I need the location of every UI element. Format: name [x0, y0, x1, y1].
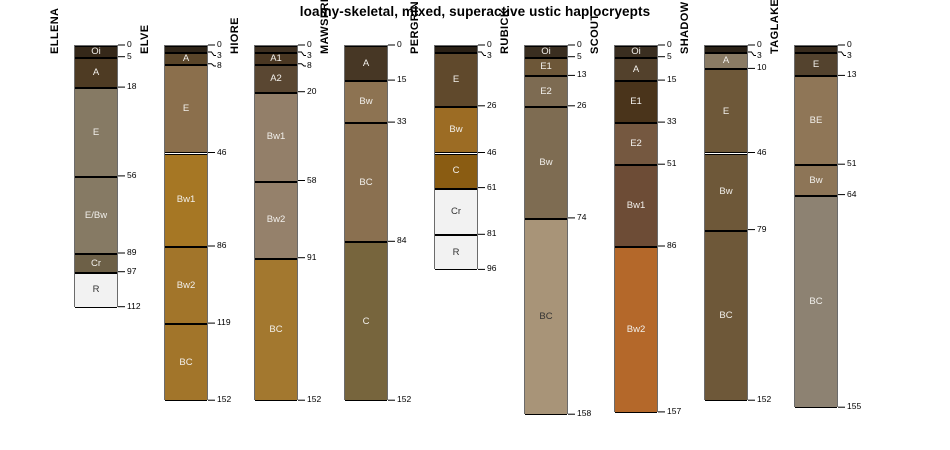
pedon-name-label: TAGLAKE [770, 0, 781, 54]
horizon-segment[interactable]: R [75, 273, 117, 308]
depth-tick-label: 0 [127, 40, 132, 49]
horizon-segment[interactable]: C [345, 242, 387, 401]
horizon-segment[interactable]: Bw2 [165, 247, 207, 324]
horizon-label: BC [179, 358, 192, 368]
depth-tick-label: 155 [847, 402, 861, 411]
profile-bar[interactable]: OiE1E2BwBC [524, 45, 568, 414]
horizon-segment[interactable]: Oi [255, 46, 297, 53]
pedon-name-label: HIORE [230, 17, 241, 54]
horizon-segment[interactable]: BC [165, 324, 207, 401]
horizon-label: Bw [539, 158, 552, 168]
depth-tick-label: 0 [577, 40, 582, 49]
depth-tick-label: 64 [847, 190, 856, 199]
horizon-label: A [363, 59, 369, 69]
horizon-label: Bw2 [267, 215, 285, 225]
profile-bar[interactable]: OiA1A2Bw1Bw2BC [254, 45, 298, 400]
horizon-segment[interactable]: Oi [525, 46, 567, 58]
profile-bar[interactable]: OeAEBw1Bw2BC [164, 45, 208, 400]
horizon-label: A2 [270, 74, 282, 84]
depth-tick-label: 8 [217, 61, 222, 70]
horizon-segment[interactable]: C [435, 154, 477, 189]
profile-bar[interactable]: OeAEBwBC [704, 45, 748, 400]
horizon-label: Oi [631, 47, 641, 57]
horizon-label: R [93, 285, 100, 295]
horizon-segment[interactable]: Bw [525, 107, 567, 219]
horizon-segment[interactable]: A [705, 53, 747, 69]
horizon-label: A [723, 56, 729, 66]
depth-tick-label: 0 [847, 40, 852, 49]
pedon-name-label: ELLENA [50, 8, 61, 54]
horizon-label: Bw1 [177, 195, 195, 205]
horizon-segment[interactable]: Oi [615, 46, 657, 58]
horizon-segment[interactable]: E2 [615, 123, 657, 165]
depth-tick-label: 3 [487, 51, 492, 60]
horizon-segment[interactable]: E [75, 88, 117, 177]
profile-bar[interactable]: OiEBEBwBC [794, 45, 838, 407]
horizon-label: BC [359, 178, 372, 188]
horizon-label: A [93, 68, 99, 78]
horizon-label: C [453, 166, 460, 176]
horizon-segment[interactable]: A [165, 53, 207, 65]
horizon-label: E [723, 107, 729, 117]
horizon-segment[interactable]: E [705, 69, 747, 153]
horizon-label: Oi [91, 47, 101, 57]
horizon-segment[interactable]: E2 [525, 76, 567, 106]
horizon-label: E [183, 104, 189, 114]
profile-bar[interactable]: OiAE1E2Bw1Bw2 [614, 45, 658, 412]
depth-tick-label: 3 [757, 51, 762, 60]
horizon-segment[interactable]: BC [345, 123, 387, 242]
horizon-segment[interactable]: Oe [435, 46, 477, 53]
pedon-name-label: SCOUT [590, 14, 601, 55]
horizon-segment[interactable]: A [615, 58, 657, 81]
horizon-segment[interactable]: E1 [525, 58, 567, 77]
horizon-label: BC [719, 311, 732, 321]
horizon-segment[interactable]: Cr [435, 189, 477, 236]
depth-tick-label: 5 [667, 52, 672, 61]
horizon-label: C [363, 317, 370, 327]
horizon-segment[interactable]: Bw1 [615, 165, 657, 247]
depth-tick-label: 3 [847, 51, 852, 60]
horizon-label: E1 [630, 97, 642, 107]
horizon-segment[interactable]: BE [795, 76, 837, 165]
horizon-segment[interactable]: E [165, 65, 207, 154]
horizon-label: E [813, 60, 819, 70]
horizon-segment[interactable]: A [345, 46, 387, 81]
horizon-segment[interactable]: Bw [705, 154, 747, 231]
horizon-label: Bw [359, 97, 372, 107]
horizon-label: Bw [719, 187, 732, 197]
horizon-label: Bw2 [627, 325, 645, 335]
pedon-name-label: ELVE [140, 24, 151, 54]
horizon-segment[interactable]: Oe [165, 46, 207, 53]
depth-tick-label: 0 [487, 40, 492, 49]
horizon-segment[interactable]: Cr [75, 254, 117, 273]
depth-tick-label: 3 [307, 51, 312, 60]
horizon-segment[interactable]: Bw1 [165, 154, 207, 247]
horizon-label: R [453, 248, 460, 258]
horizon-label: E2 [540, 87, 552, 97]
depth-tick-label: 0 [397, 40, 402, 49]
horizon-segment[interactable]: A2 [255, 65, 297, 93]
depth-tick-label: 8 [307, 61, 312, 70]
depth-tick-label: 13 [847, 70, 856, 79]
horizon-segment[interactable]: E1 [615, 81, 657, 123]
horizon-label: Cr [451, 207, 461, 217]
horizon-segment[interactable]: E [795, 53, 837, 76]
horizon-label: E2 [630, 139, 642, 149]
horizon-segment[interactable]: BC [255, 259, 297, 402]
depth-tick-label: 0 [757, 40, 762, 49]
horizon-segment[interactable]: BC [525, 219, 567, 415]
horizon-label: A [633, 65, 639, 75]
horizon-label: E/Bw [85, 211, 107, 221]
depth-tick-label: 51 [847, 159, 856, 168]
horizon-segment[interactable]: Bw2 [255, 182, 297, 259]
horizon-segment[interactable]: Bw [435, 107, 477, 154]
horizon-label: BC [809, 297, 822, 307]
depth-tick-label: 3 [217, 51, 222, 60]
horizon-label: BC [269, 325, 282, 335]
pedon-name-label: PERGRIN [410, 1, 421, 54]
horizon-label: A [183, 54, 189, 64]
horizon-label: Bw1 [627, 201, 645, 211]
horizon-segment[interactable]: E/Bw [75, 177, 117, 254]
horizon-label: E [453, 75, 459, 85]
depth-tick-label: 0 [307, 40, 312, 49]
horizon-label: BE [810, 116, 823, 126]
horizon-label: Cr [91, 259, 101, 269]
horizon-segment[interactable]: A [75, 58, 117, 88]
horizon-label: Bw [809, 176, 822, 186]
soil-profile-taglake: TAGLAKEOiEBEBwBC03135164155 [764, 0, 878, 450]
horizon-segment[interactable]: Bw1 [255, 93, 297, 182]
horizon-label: Oi [541, 47, 551, 57]
profile-bar[interactable]: OeEBwCCrR [434, 45, 478, 269]
horizon-label: Bw [449, 125, 462, 135]
horizon-segment[interactable]: A1 [255, 53, 297, 65]
depth-leader-lines [838, 0, 878, 450]
depth-tick-label: 5 [577, 52, 582, 61]
horizon-label: Bw1 [267, 132, 285, 142]
horizon-label: BC [539, 312, 552, 322]
horizon-label: E1 [540, 62, 552, 72]
horizon-segment[interactable]: Oe [705, 46, 747, 53]
profile-bar[interactable]: OiAEE/BwCrR [74, 45, 118, 307]
horizon-label: E [93, 128, 99, 138]
horizon-segment[interactable]: Bw [345, 81, 387, 123]
horizon-label: Bw2 [177, 281, 195, 291]
pedon-name-label: RUBICK [500, 9, 511, 54]
pedon-name-label: MAWSPRING [320, 0, 331, 54]
horizon-segment[interactable]: BC [795, 196, 837, 409]
horizon-segment[interactable]: R [435, 235, 477, 270]
horizon-segment[interactable]: E [435, 53, 477, 107]
pedon-name-label: SHADOW [680, 1, 691, 54]
depth-tick-label: 0 [217, 40, 222, 49]
horizon-segment[interactable]: Oi [795, 46, 837, 53]
depth-tick-label: 0 [667, 40, 672, 49]
horizon-segment[interactable]: BC [705, 231, 747, 402]
profile-bar[interactable]: ABwBCC [344, 45, 388, 400]
depth-tick-label: 5 [127, 52, 132, 61]
horizon-segment[interactable]: Oi [75, 46, 117, 58]
horizon-label: A1 [270, 54, 282, 64]
soil-profile-figure: loamy-skeletal, mixed, superactive ustic… [0, 0, 950, 450]
horizon-segment[interactable]: Bw [795, 165, 837, 195]
horizon-segment[interactable]: Bw2 [615, 247, 657, 413]
